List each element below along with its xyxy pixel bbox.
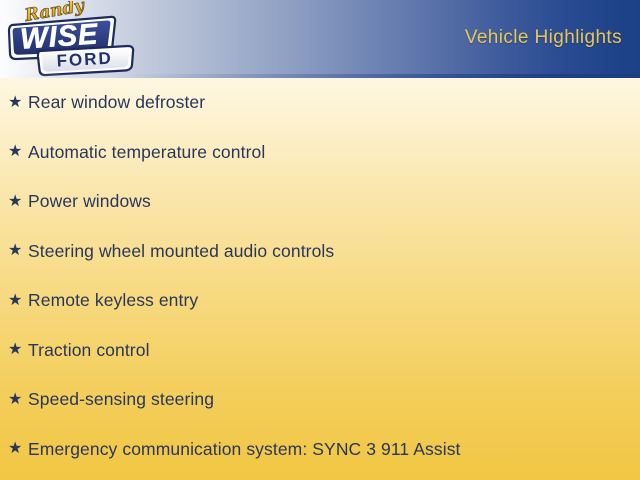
feature-label: Speed-sensing steering bbox=[28, 389, 640, 410]
logo-ford-banner: FORD bbox=[38, 46, 133, 75]
list-item: ★Traction control bbox=[0, 326, 640, 376]
feature-label: Traction control bbox=[28, 340, 640, 361]
page-title: Vehicle Highlights bbox=[465, 27, 622, 49]
list-item: ★Speed-sensing steering bbox=[0, 375, 640, 425]
star-bullet-icon: ★ bbox=[8, 144, 28, 160]
feature-label: Power windows bbox=[28, 191, 640, 212]
feature-label: Steering wheel mounted audio controls bbox=[28, 241, 640, 262]
feature-label: Rear window defroster bbox=[28, 92, 640, 113]
star-bullet-icon: ★ bbox=[8, 293, 28, 309]
list-item: ★Automatic temperature control bbox=[0, 128, 640, 178]
dealer-logo: Randy WISE FORD bbox=[6, 1, 136, 77]
star-bullet-icon: ★ bbox=[8, 95, 28, 111]
feature-label: Remote keyless entry bbox=[28, 290, 640, 311]
list-item: ★Rear window defroster bbox=[0, 78, 640, 128]
list-item: ★Steering wheel mounted audio controls bbox=[0, 227, 640, 277]
list-item: ★Emergency communication system: SYNC 3 … bbox=[0, 425, 640, 475]
feature-label: Emergency communication system: SYNC 3 9… bbox=[28, 439, 640, 460]
vehicle-highlights-page: Randy WISE FORD Vehicle Highlights ★Rea bbox=[0, 0, 640, 480]
star-bullet-icon: ★ bbox=[8, 194, 28, 210]
list-item: ★Power windows bbox=[0, 177, 640, 227]
star-bullet-icon: ★ bbox=[8, 441, 28, 457]
vehicle-highlights-list: ★Rear window defroster★Automatic tempera… bbox=[0, 78, 640, 480]
page-header: Randy WISE FORD Vehicle Highlights bbox=[0, 0, 640, 78]
star-bullet-icon: ★ bbox=[8, 392, 28, 408]
feature-label: Automatic temperature control bbox=[28, 142, 640, 163]
svg-text:FORD: FORD bbox=[56, 49, 113, 71]
list-item: ★Remote keyless entry bbox=[0, 276, 640, 326]
star-bullet-icon: ★ bbox=[8, 243, 28, 259]
star-bullet-icon: ★ bbox=[8, 342, 28, 358]
